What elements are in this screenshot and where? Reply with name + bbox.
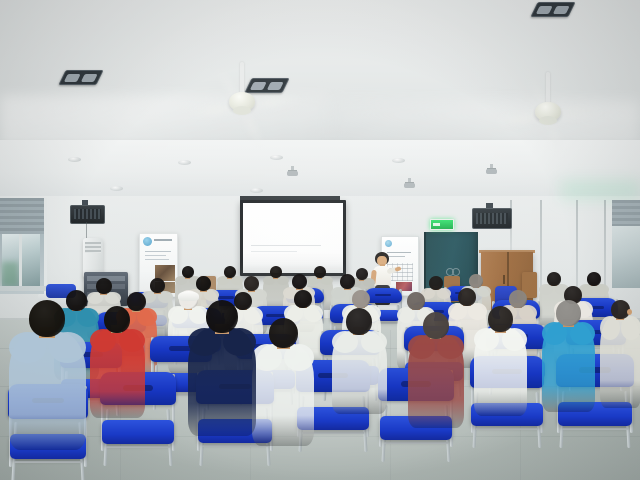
audience-member bbox=[472, 306, 528, 416]
smoke-detector-icon bbox=[392, 158, 405, 163]
audience-member bbox=[540, 300, 596, 412]
window-mullion bbox=[19, 234, 22, 286]
sprinkler-head-icon bbox=[404, 178, 415, 189]
sprinkler-head-icon bbox=[287, 166, 298, 177]
ceiling-spotlight-icon bbox=[58, 70, 103, 85]
smoke-detector-icon bbox=[178, 160, 191, 165]
audience-member bbox=[186, 300, 258, 436]
banner-logo-icon bbox=[143, 237, 152, 246]
wall-speaker-left-icon bbox=[70, 205, 105, 224]
projection-screen[interactable] bbox=[240, 200, 346, 276]
ceiling-fan-left-icon bbox=[182, 62, 302, 134]
window-blind-left bbox=[0, 198, 44, 234]
ceiling-fan-right-icon bbox=[488, 72, 608, 144]
photo-scene bbox=[0, 0, 640, 480]
audience-member bbox=[330, 308, 388, 414]
audience-member bbox=[406, 312, 466, 428]
window-sill-left bbox=[0, 286, 46, 291]
smoke-detector-icon bbox=[110, 186, 123, 191]
sprinkler-head-icon bbox=[486, 164, 497, 175]
audience-member bbox=[598, 300, 640, 408]
banner-text-line bbox=[145, 255, 166, 256]
window-blind-right bbox=[612, 200, 640, 226]
emergency-exit-sign-icon bbox=[430, 219, 454, 230]
ceiling-soffit bbox=[0, 140, 640, 198]
ceiling-spotlight-icon bbox=[530, 2, 575, 17]
poster-logo-icon bbox=[385, 240, 392, 247]
cabinet-handle-icon[interactable] bbox=[503, 275, 505, 284]
banner-text-line bbox=[145, 251, 171, 252]
wall-projector-box-right-icon bbox=[472, 208, 512, 229]
smoke-detector-icon bbox=[270, 155, 283, 160]
banner-text-line bbox=[145, 259, 169, 260]
audience-member bbox=[250, 318, 316, 446]
banner-title-text bbox=[154, 239, 172, 241]
smoke-detector-icon bbox=[68, 157, 81, 162]
door-handle-icon[interactable] bbox=[452, 268, 460, 276]
audience-member bbox=[88, 306, 146, 418]
window-foliage-reflection bbox=[2, 262, 18, 286]
audience-member bbox=[6, 300, 88, 450]
wall-green-glow bbox=[560, 180, 640, 200]
smoke-detector-icon bbox=[250, 188, 263, 193]
